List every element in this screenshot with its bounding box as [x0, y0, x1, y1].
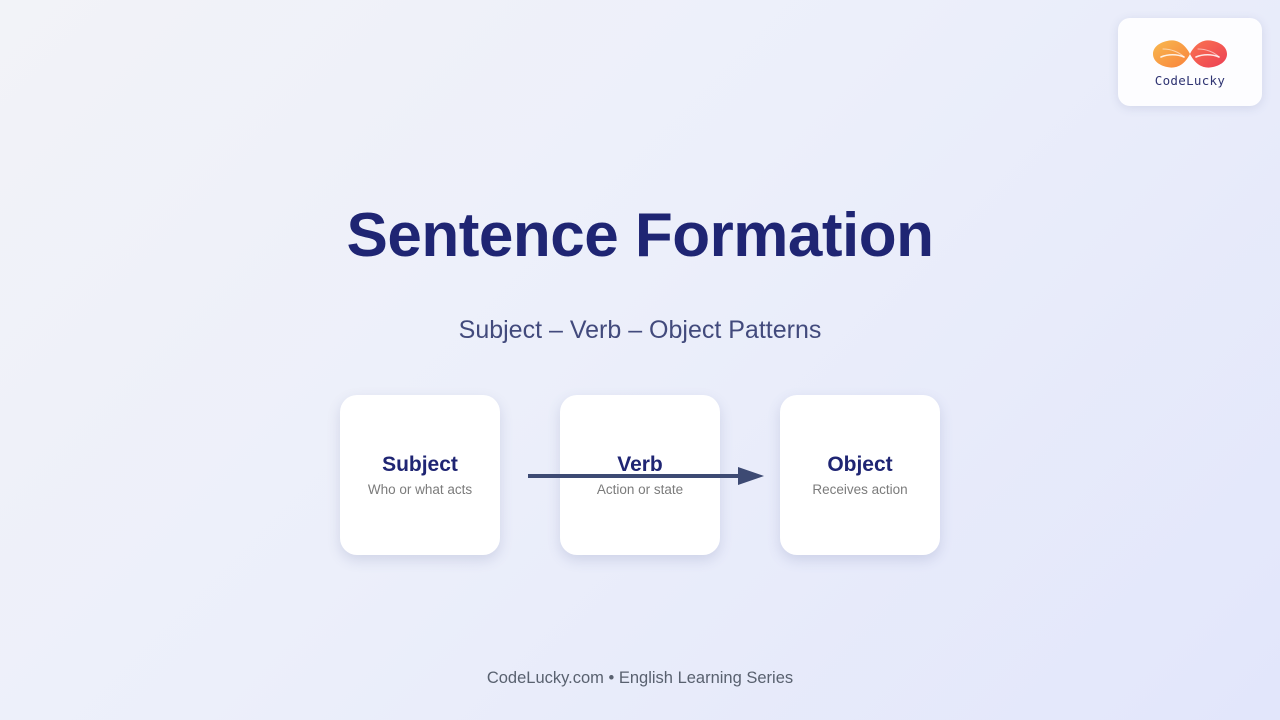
- card-description: Receives action: [812, 481, 907, 499]
- page-subtitle: Subject – Verb – Object Patterns: [0, 312, 1280, 348]
- card-title: Verb: [617, 451, 663, 479]
- card-description: Action or state: [597, 481, 683, 499]
- diagram-card-object[interactable]: Object Receives action: [780, 395, 940, 555]
- diagram-card-verb[interactable]: Verb Action or state: [560, 395, 720, 555]
- card-description: Who or what acts: [368, 481, 472, 499]
- card-title: Subject: [382, 451, 458, 479]
- card-title: Object: [827, 451, 892, 479]
- diagram-card-subject[interactable]: Subject Who or what acts: [340, 395, 500, 555]
- svo-diagram: Subject Who or what acts Verb Action or …: [0, 395, 1280, 565]
- footer-text: CodeLucky.com • English Learning Series: [0, 666, 1280, 690]
- infinity-loop-icon: [1151, 37, 1229, 71]
- slide-canvas: CodeLucky Sentence Formation Subject – V…: [0, 0, 1280, 720]
- brand-logo-text: CodeLucky: [1155, 73, 1225, 88]
- brand-logo-badge[interactable]: CodeLucky: [1118, 18, 1262, 106]
- page-title: Sentence Formation: [0, 198, 1280, 274]
